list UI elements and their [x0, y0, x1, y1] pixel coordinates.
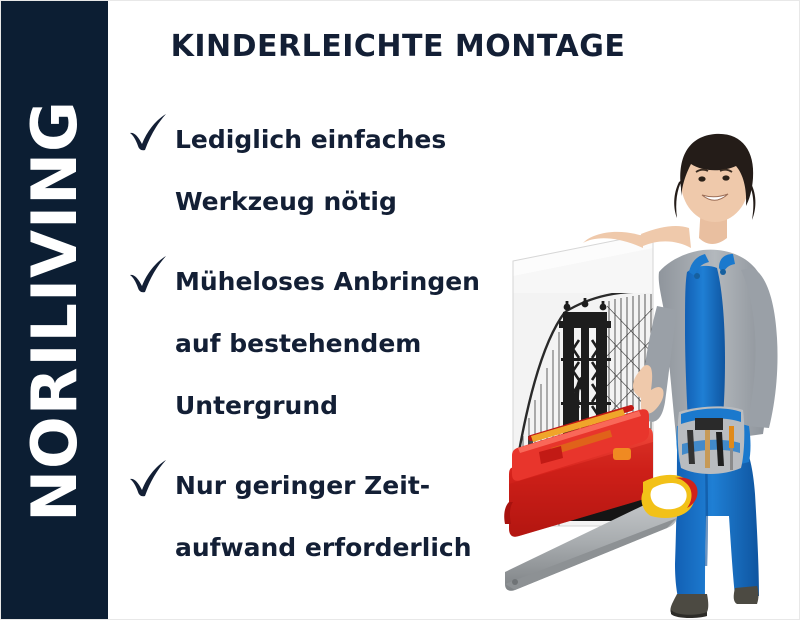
list-item-line: auf bestehendem	[175, 313, 527, 375]
list-item-line: Lediglich einfaches	[175, 109, 527, 171]
check-icon	[127, 457, 169, 501]
promo-banner: NORILIVING KINDERLEICHTE MONTAGE Ledigli…	[0, 0, 800, 620]
brand-sidebar: NORILIVING	[1, 1, 108, 620]
list-item: Lediglich einfaches Werkzeug nötig	[127, 109, 527, 233]
feature-list: Lediglich einfaches Werkzeug nötig Mühel…	[127, 109, 527, 597]
installer-scene-illustration	[491, 96, 800, 620]
product-photo	[491, 96, 800, 620]
check-icon	[127, 111, 169, 155]
list-item-line: aufwand erforderlich	[175, 517, 527, 579]
list-item-text: Nur geringer Zeit- aufwand erforderlich	[169, 455, 527, 579]
list-item: Müheloses Anbringen auf bestehendem Unte…	[127, 251, 527, 437]
page-title: KINDERLEICHTE MONTAGE	[108, 29, 688, 64]
list-item-text: Lediglich einfaches Werkzeug nötig	[169, 109, 527, 233]
list-item-line: Nur geringer Zeit-	[175, 455, 527, 517]
list-item: Nur geringer Zeit- aufwand erforderlich	[127, 455, 527, 579]
list-item-line: Untergrund	[175, 375, 527, 437]
list-item-text: Müheloses Anbringen auf bestehendem Unte…	[169, 251, 527, 437]
check-icon	[127, 253, 169, 297]
list-item-line: Werkzeug nötig	[175, 171, 527, 233]
shoe	[670, 594, 708, 616]
list-item-line: Müheloses Anbringen	[175, 251, 527, 313]
tool-belt	[678, 406, 745, 474]
brand-name: NORILIVING	[24, 100, 86, 522]
